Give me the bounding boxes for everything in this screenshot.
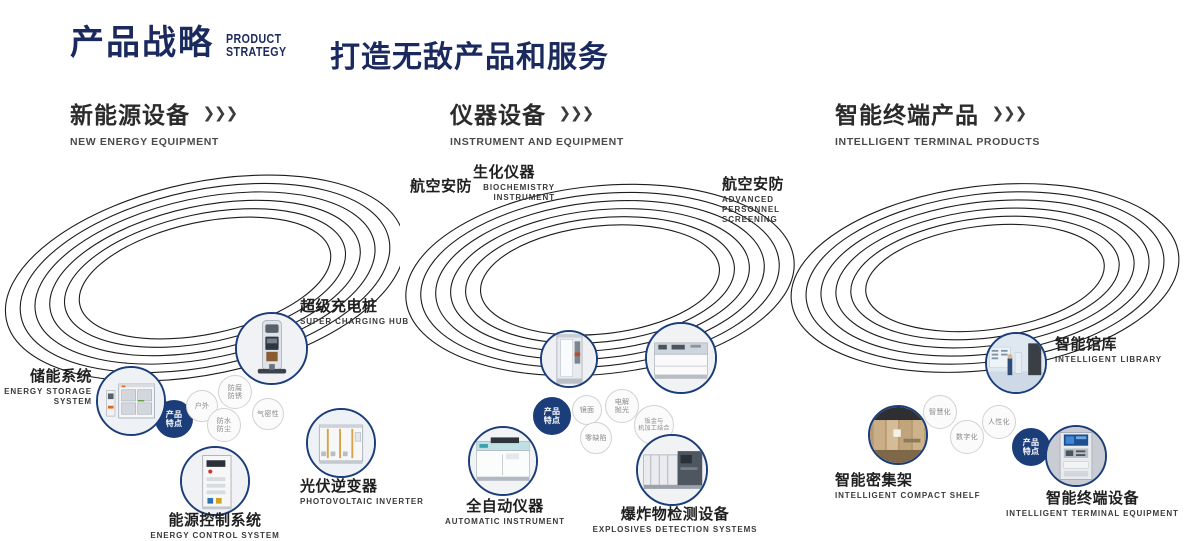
node-label-en: BIOCHEMISTRY INSTRUMENT [473, 183, 555, 203]
node-label-intelligent-library: 智能馆库 INTELLIGENT LIBRARY [1055, 336, 1162, 365]
node-label-cn: 爆炸物检测设备 [565, 506, 785, 523]
section-heading-en: INSTRUMENT AND EQUIPMENT [450, 136, 624, 148]
node-label-en: INTELLIGENT TERMINAL EQUIPMENT [985, 509, 1200, 519]
page-title-en-line2: STRATEGY [226, 44, 287, 59]
node-energy-control[interactable] [180, 446, 250, 516]
node-label-energy-control: 能源控制系统 ENERGY CONTROL SYSTEM [90, 512, 340, 541]
compact-shelf-icon [870, 407, 926, 463]
node-label-cn: 能源控制系统 [90, 512, 340, 529]
explosives-detector-icon [638, 436, 706, 504]
page-title-en: PRODUCT STRATEGY [226, 32, 287, 58]
node-label-cn: 航空安防 [410, 178, 472, 195]
core-feature-bubble: 产品特点 [533, 397, 571, 435]
control-cabinet-icon [182, 448, 248, 514]
energy-storage-cabinet-icon [98, 368, 164, 434]
node-label-explosives-detection: 爆炸物检测设备 EXPLOSIVES DETECTION SYSTEMS [565, 506, 785, 535]
library-room-icon [987, 334, 1045, 392]
product-strategy-infographic: 产品战略 PRODUCT STRATEGY 打造无敌产品和服务 新能源设备 ❯❯… [0, 0, 1200, 422]
node-label-en: ENERGY CONTROL SYSTEM [90, 531, 340, 541]
node-label-biochemistry-instrument: 生化仪器 BIOCHEMISTRY INSTRUMENT [473, 164, 555, 203]
section-heading-cn: 智能终端产品 [835, 96, 979, 130]
node-label-cn: 储能系统 [0, 368, 92, 385]
node-personnel-screening[interactable] [645, 322, 717, 394]
feature-bubble: 气密性 [252, 398, 284, 430]
page-slogan: 打造无敌产品和服务 [330, 32, 609, 76]
page-title: 产品战略 PRODUCT STRATEGY [70, 26, 300, 60]
feature-bubble: 零缺陷 [580, 422, 612, 454]
node-label-en: ENERGY STORAGE SYSTEM [0, 387, 92, 407]
node-biochemistry-instrument[interactable] [540, 330, 598, 388]
node-label-charging-hub: 超级充电桩 SUPER CHARGING HUB [300, 298, 409, 327]
chevron-right-icon: ❯❯❯ [202, 104, 237, 122]
feature-bubble: 数字化 [950, 420, 984, 454]
node-intelligent-library[interactable] [985, 332, 1047, 394]
core-feature-text: 产品特点 [166, 410, 183, 429]
node-automatic-instrument[interactable] [468, 426, 538, 496]
self-service-kiosk-icon [1047, 427, 1105, 485]
node-label-en: INTELLIGENT LIBRARY [1055, 355, 1162, 365]
section-heading-cn: 新能源设备 [70, 96, 190, 130]
node-label-terminal-equipment: 智能终端设备 INTELLIGENT TERMINAL EQUIPMENT [985, 490, 1200, 519]
node-label-cn: 智能密集架 [835, 472, 995, 489]
node-label-cn: 光伏逆变器 [300, 478, 424, 495]
section-heading-intelligent-terminal: 智能终端产品 ❯❯❯ INTELLIGENT TERMINAL PRODUCTS [835, 96, 1040, 148]
node-label-cn: 智能馆库 [1055, 336, 1162, 353]
biochemistry-analyzer-icon [542, 332, 596, 386]
node-label-aviation-security-left: 航空安防 [410, 178, 472, 195]
feature-bubble: 人性化 [982, 405, 1016, 439]
chevron-right-icon: ❯❯❯ [558, 104, 593, 122]
node-photovoltaic-inverter[interactable] [306, 408, 376, 478]
section-heading-instrument: 仪器设备 ❯❯❯ INSTRUMENT AND EQUIPMENT [450, 96, 624, 148]
node-label-compact-shelf: 智能密集架 INTELLIGENT COMPACT SHELF [835, 472, 995, 501]
feature-bubble: 智慧化 [923, 395, 957, 429]
core-feature-text: 产品特点 [544, 407, 561, 426]
node-energy-storage[interactable] [96, 366, 166, 436]
page-title-cn: 产品战略 [70, 26, 214, 60]
section-heading-new-energy: 新能源设备 ❯❯❯ NEW ENERGY EQUIPMENT [70, 96, 237, 148]
node-label-en: INTELLIGENT COMPACT SHELF [835, 491, 985, 501]
node-label-cn: 智能终端设备 [985, 490, 1200, 507]
node-label-en: EXPLOSIVES DETECTION SYSTEMS [565, 525, 785, 535]
node-explosives-detection[interactable] [636, 434, 708, 506]
diagram-intelligent-terminal: 智慧化 数字化 人性化 产品特点 智能馆库 [790, 150, 1200, 410]
section-heading-cn: 仪器设备 [450, 96, 546, 130]
diagram-new-energy: 产品特点 户外 防腐防锈 防水防尘 气密性 储能系统 [0, 150, 400, 410]
section-heading-en: INTELLIGENT TERMINAL PRODUCTS [835, 136, 1040, 148]
screening-machine-icon [647, 324, 715, 392]
inverter-cabinet-icon [308, 410, 374, 476]
feature-bubble: 镜面 [572, 395, 602, 425]
node-compact-shelf[interactable] [868, 405, 928, 465]
feature-bubble: 防水防尘 [207, 408, 241, 442]
chevron-right-icon: ❯❯❯ [991, 104, 1026, 122]
node-label-en: SUPER CHARGING HUB [300, 317, 409, 327]
core-feature-bubble: 产品特点 [1012, 428, 1050, 466]
section-heading-en: NEW ENERGY EQUIPMENT [70, 136, 237, 148]
node-label-energy-storage: 储能系统 ENERGY STORAGE SYSTEM [0, 368, 92, 407]
node-charging-hub[interactable] [235, 312, 308, 385]
node-terminal-equipment[interactable] [1045, 425, 1107, 487]
core-feature-text: 产品特点 [1023, 438, 1040, 457]
charging-pile-icon [237, 314, 306, 383]
automatic-instrument-icon [470, 428, 536, 494]
node-label-cn: 生化仪器 [473, 164, 555, 181]
feature-bubble: 电解抛光 [605, 389, 639, 423]
node-label-cn: 超级充电桩 [300, 298, 409, 315]
